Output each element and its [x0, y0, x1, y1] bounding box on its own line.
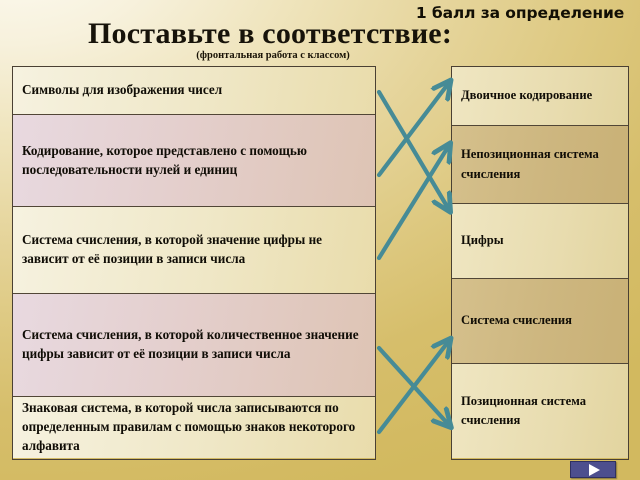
term-item-1[interactable]: Двоичное кодирование	[452, 67, 628, 125]
term-item-3-label: Цифры	[461, 231, 504, 250]
definitions-column: Символы для изображения чисел Кодировани…	[12, 66, 376, 460]
terms-column: Двоичное кодирование Непозиционная систе…	[451, 66, 629, 460]
next-slide-button[interactable]	[570, 461, 616, 478]
definition-item-3-label: Система счисления, в которой значение ци…	[22, 231, 366, 268]
definition-item-5[interactable]: Знаковая система, в которой числа записы…	[13, 396, 375, 458]
term-item-2-label: Непозиционная система счисления	[461, 145, 619, 183]
definition-item-1-label: Символы для изображения чисел	[22, 81, 222, 100]
term-item-5-label: Позиционная система счисления	[461, 392, 619, 430]
arrow-def3-term2	[379, 147, 448, 258]
play-triangle-icon	[589, 464, 600, 476]
definition-item-2-label: Кодирование, которое представлено с помо…	[22, 142, 366, 179]
arrow-def5-term4	[379, 342, 448, 432]
term-item-4[interactable]: Система счисления	[452, 278, 628, 363]
term-item-3[interactable]: Цифры	[452, 203, 628, 278]
definition-item-4[interactable]: Система счисления, в которой количествен…	[13, 293, 375, 396]
definition-item-5-label: Знаковая система, в которой числа записы…	[22, 399, 366, 455]
slide-root: 1 балл за определение Поставьте в соотве…	[0, 0, 640, 480]
arrow-def1-term3	[379, 92, 448, 208]
term-item-2[interactable]: Непозиционная система счисления	[452, 125, 628, 203]
definition-item-2[interactable]: Кодирование, которое представлено с помо…	[13, 114, 375, 206]
term-item-4-label: Система счисления	[461, 311, 572, 330]
arrow-def2-term1	[379, 84, 448, 175]
term-item-5[interactable]: Позиционная система счисления	[452, 363, 628, 458]
definition-item-1[interactable]: Символы для изображения чисел	[13, 67, 375, 114]
definition-item-4-label: Система счисления, в которой количествен…	[22, 326, 366, 363]
page-title: Поставьте в соответствие:	[0, 17, 540, 51]
page-subtitle: (фронтальная работа с классом)	[0, 50, 546, 61]
definition-item-3[interactable]: Система счисления, в которой значение ци…	[13, 206, 375, 293]
term-item-1-label: Двоичное кодирование	[461, 86, 592, 105]
arrow-def4-term5	[379, 348, 448, 424]
